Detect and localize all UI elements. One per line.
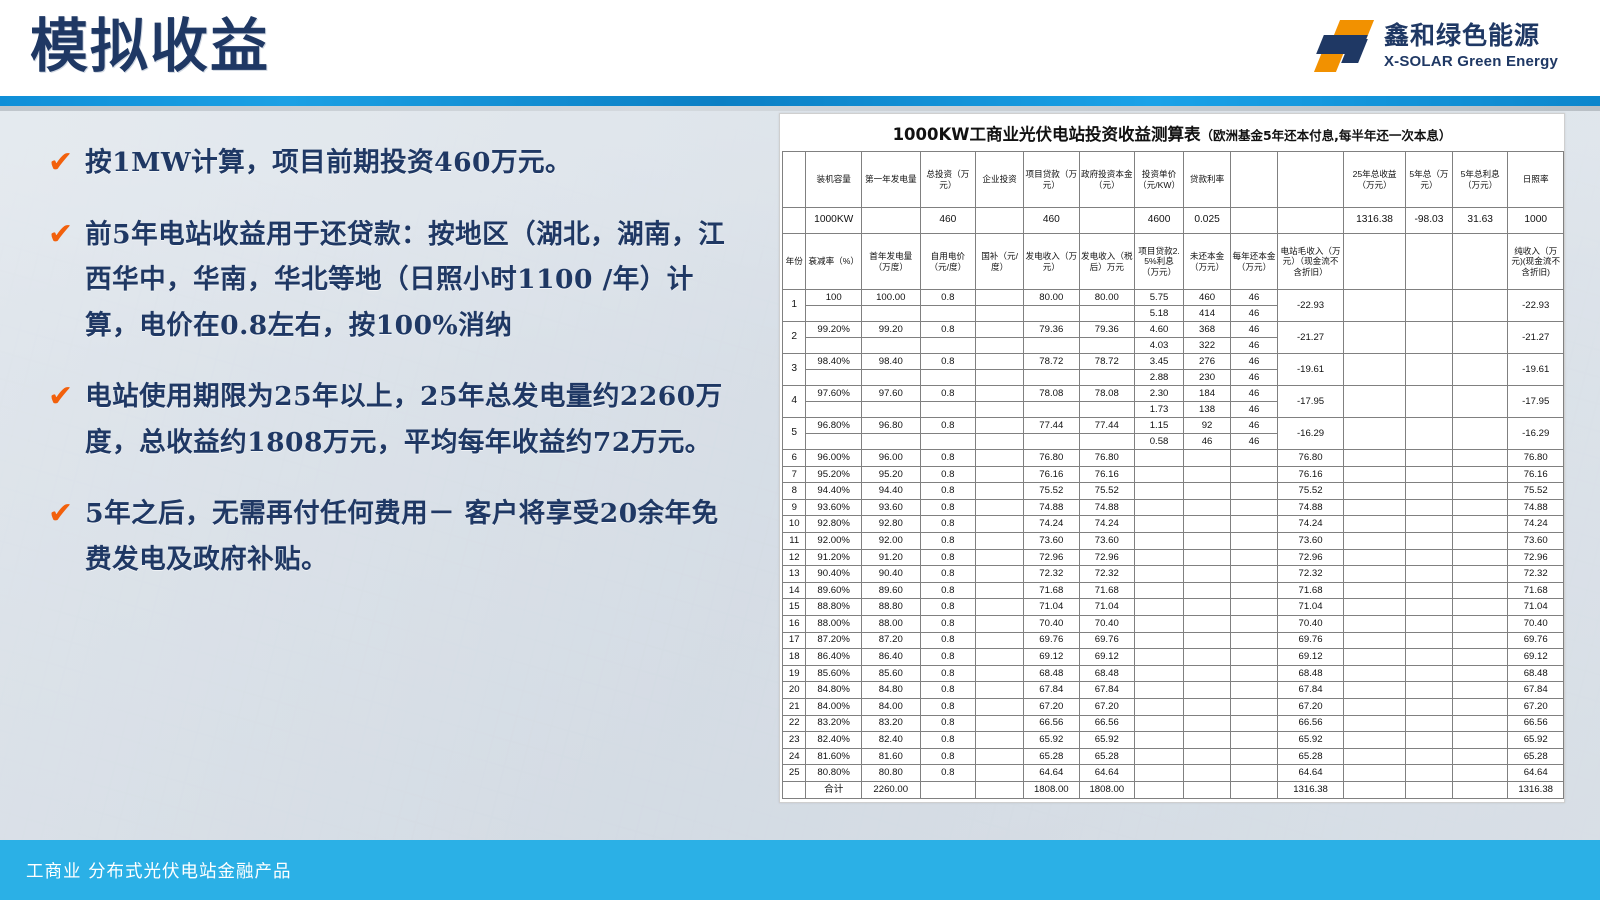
table-cell: [1344, 599, 1406, 616]
table-cell: 80.80%: [806, 765, 861, 782]
table-cell: 0.8: [920, 290, 975, 306]
table-cell: [783, 208, 806, 234]
table-cell: [1452, 632, 1507, 649]
table-cell: 95.20%: [806, 466, 861, 483]
table-cell: [1344, 450, 1406, 467]
table-cell: [976, 765, 1024, 782]
table-cell: 79.36: [1024, 322, 1079, 338]
table-cell: -22.93: [1277, 290, 1343, 322]
table-cell: [1135, 665, 1184, 682]
table-cell: [1231, 615, 1278, 632]
table-cell: [1344, 418, 1406, 450]
table-cell: 67.84: [1024, 682, 1079, 699]
table-cell: 46: [1231, 322, 1278, 338]
table-header-cell: 装机容量: [806, 152, 861, 208]
table-cell: [1024, 370, 1079, 386]
table-row: 1886.40%86.400.869.1269.1269.1269.12: [783, 649, 1564, 666]
table-cell: 15: [783, 599, 806, 616]
table-header-cell: [1452, 234, 1507, 290]
table-cell: 88.80%: [806, 599, 861, 616]
table-cell: 0.8: [920, 748, 975, 765]
revenue-table-panel: 1000KW工商业光伏电站投资收益测算表（欧洲基金5年还本付息,每半年还一次本息…: [779, 113, 1565, 803]
table-cell: [1184, 715, 1231, 732]
table-cell: 75.52: [1079, 483, 1134, 500]
table-cell: 0.8: [920, 765, 975, 782]
table-row: 1390.40%90.400.872.3272.3272.3272.32: [783, 566, 1564, 583]
table-cell: [1405, 781, 1452, 798]
table-cell: [1231, 649, 1278, 666]
table-cell: 96.80: [861, 418, 920, 434]
table-cell: [1231, 483, 1278, 500]
table-header-cell: 政府投资本金（元）: [1079, 152, 1134, 208]
table-cell: 69.12: [1277, 649, 1343, 666]
table-cell: 72.32: [1024, 566, 1079, 583]
footer-text: 工商业 分布式光伏电站金融产品: [26, 858, 292, 883]
table-cell: 84.80: [861, 682, 920, 699]
table-cell: [1344, 549, 1406, 566]
table-cell: [1452, 466, 1507, 483]
page-title: 模拟收益: [30, 10, 270, 83]
table-cell: 73.60: [1024, 532, 1079, 549]
table-cell: 460: [1024, 208, 1079, 234]
table-row: 696.00%96.000.876.8076.8076.8076.80: [783, 450, 1564, 467]
table-cell: 0.8: [920, 582, 975, 599]
table-cell: [1344, 386, 1406, 418]
table-cell: 93.60%: [806, 499, 861, 516]
table-header-cell: 纯收入（万元)(现金流不含折旧): [1508, 234, 1564, 290]
table-cell: 0.8: [920, 566, 975, 583]
table-row: 398.40%98.400.878.7278.723.4527646-19.61…: [783, 354, 1564, 370]
table-cell: 67.20: [1277, 698, 1343, 715]
table-cell: 72.32: [1079, 566, 1134, 583]
table-cell: 66.56: [1024, 715, 1079, 732]
table-cell: [976, 549, 1024, 566]
table-cell: [1344, 748, 1406, 765]
table-cell: 1000: [1508, 208, 1564, 234]
table-cell: [1405, 599, 1452, 616]
table-cell: [1405, 549, 1452, 566]
table-cell: [976, 386, 1024, 402]
header-divider-gray: [0, 106, 1600, 111]
table-cell: 94.40%: [806, 483, 861, 500]
table-cell: 0.8: [920, 599, 975, 616]
list-item: ✔ 按1MW计算，项目前期投资460万元。: [48, 140, 738, 186]
table-cell: [1452, 599, 1507, 616]
table-cell: 19: [783, 665, 806, 682]
table-cell: [1135, 715, 1184, 732]
table-cell: [1184, 615, 1231, 632]
table-cell: -17.95: [1277, 386, 1343, 418]
slide-footer: 工商业 分布式光伏电站金融产品: [0, 840, 1600, 900]
table-cell: 80.00: [1079, 290, 1134, 306]
table-cell: [1135, 516, 1184, 533]
table-cell: [1344, 781, 1406, 798]
table-cell: [861, 338, 920, 354]
table-cell: 93.60: [861, 499, 920, 516]
table-cell: [1184, 466, 1231, 483]
table-cell: 0.8: [920, 386, 975, 402]
table-cell: [1344, 483, 1406, 500]
table-cell: 65.28: [1024, 748, 1079, 765]
table-cell: 74.88: [1024, 499, 1079, 516]
table-cell: 67.84: [1277, 682, 1343, 699]
table-cell: 21: [783, 698, 806, 715]
table-cell: [1184, 450, 1231, 467]
table-cell: [1135, 698, 1184, 715]
table-cell: 46: [1184, 434, 1231, 450]
table-cell: 74.88: [1277, 499, 1343, 516]
table-cell: [1135, 499, 1184, 516]
table-cell: [1135, 582, 1184, 599]
table-cell: [976, 290, 1024, 306]
table-cell: [1452, 354, 1507, 386]
table-cell: 65.28: [1277, 748, 1343, 765]
table-cell: 90.40: [861, 566, 920, 583]
table-cell: 71.04: [1508, 599, 1564, 616]
table-cell: 1000KW: [806, 208, 861, 234]
table-cell: 70.40: [1277, 615, 1343, 632]
table-cell: [1452, 450, 1507, 467]
table-cell: [1231, 732, 1278, 749]
table-cell: [1344, 682, 1406, 699]
table-cell: 230: [1184, 370, 1231, 386]
table-cell: 69.76: [1079, 632, 1134, 649]
table-cell: 1808.00: [1079, 781, 1134, 798]
table-header-cell: [1231, 152, 1278, 208]
table-cell: [1079, 338, 1134, 354]
table-cell: 46: [1231, 306, 1278, 322]
table-cell: [1344, 649, 1406, 666]
table-cell: 66.56: [1508, 715, 1564, 732]
table-cell: 2.30: [1135, 386, 1184, 402]
table-cell: [976, 599, 1024, 616]
bullet-text: 5年之后，无需再付任何费用－ 客户将享受20余年免费发电及政府补贴。: [85, 491, 738, 582]
table-cell: [1135, 450, 1184, 467]
table-row: 1192.00%92.000.873.6073.6073.6073.60: [783, 532, 1564, 549]
table-row: 1985.60%85.600.868.4868.4868.4868.48: [783, 665, 1564, 682]
table-cell: 96.80%: [806, 418, 861, 434]
table-cell: [861, 402, 920, 418]
table-cell: [1405, 665, 1452, 682]
table-cell: 1316.38: [1277, 781, 1343, 798]
table-cell: 74.24: [1024, 516, 1079, 533]
table-cell: 71.68: [1024, 582, 1079, 599]
table-cell: 5.75: [1135, 290, 1184, 306]
table-cell: [1405, 698, 1452, 715]
table-cell: 64.64: [1079, 765, 1134, 782]
table-row: 299.20%99.200.879.3679.364.6036846-21.27…: [783, 322, 1564, 338]
table-cell: [976, 208, 1024, 234]
revenue-table: 装机容量第一年发电量总投资（万元）企业投资项目贷款（万元）政府投资本金（元）投资…: [782, 151, 1564, 799]
table-cell: [976, 632, 1024, 649]
table-cell: [1184, 682, 1231, 699]
table-cell: [1452, 615, 1507, 632]
table-cell: 90.40%: [806, 566, 861, 583]
table-cell: [1452, 582, 1507, 599]
table-header-cell: 发电收入（税后）万元: [1079, 234, 1134, 290]
check-icon: ✔: [48, 382, 73, 465]
table-cell: 0.8: [920, 450, 975, 467]
table-row: 596.80%96.800.877.4477.441.159246-16.29-…: [783, 418, 1564, 434]
table-cell: [1231, 715, 1278, 732]
table-cell: [1452, 322, 1507, 354]
table-cell: 46: [1231, 418, 1278, 434]
table-row: 1787.20%87.200.869.7669.7669.7669.76: [783, 632, 1564, 649]
table-cell: [976, 532, 1024, 549]
table-cell: [1452, 748, 1507, 765]
list-item: ✔ 电站使用期限为25年以上，25年总发电量约2260万度，总收益约1808万元…: [48, 374, 738, 465]
table-cell: 78.08: [1024, 386, 1079, 402]
table-cell: 0.8: [920, 322, 975, 338]
table-row: 1100100.000.880.0080.005.7546046-22.93-2…: [783, 290, 1564, 306]
table-header-cell: 企业投资: [976, 152, 1024, 208]
table-cell: 76.80: [1508, 450, 1564, 467]
table-row: 2184.00%84.000.867.2067.2067.2067.20: [783, 698, 1564, 715]
table-cell: 98.40: [861, 354, 920, 370]
table-cell-year: 3: [783, 354, 806, 386]
table-cell: [1231, 582, 1278, 599]
table-cell: [1135, 483, 1184, 500]
table-cell: 84.00%: [806, 698, 861, 715]
table-cell: [1452, 665, 1507, 682]
table-cell: [806, 434, 861, 450]
table-cell: 72.96: [1024, 549, 1079, 566]
table-cell: 0.8: [920, 682, 975, 699]
table-cell: 0.8: [920, 649, 975, 666]
table-cell: [1405, 290, 1452, 322]
table-cell: [1452, 549, 1507, 566]
table-cell: 68.48: [1277, 665, 1343, 682]
table-cell: 76.16: [1508, 466, 1564, 483]
table-cell: 71.68: [1277, 582, 1343, 599]
table-cell: [783, 781, 806, 798]
table-cell: [1135, 632, 1184, 649]
table-cell: [976, 698, 1024, 715]
table-cell: 1.73: [1135, 402, 1184, 418]
table-header-cell: 贷款利率: [1184, 152, 1231, 208]
table-cell: 80.80: [861, 765, 920, 782]
table-cell: 184: [1184, 386, 1231, 402]
table-cell: [1452, 499, 1507, 516]
table-cell: [976, 418, 1024, 434]
table-cell: [1452, 682, 1507, 699]
table-cell: 78.08: [1079, 386, 1134, 402]
table-cell: [1135, 682, 1184, 699]
table-header-cell: [1344, 234, 1406, 290]
table-cell-year: 1: [783, 290, 806, 322]
bullet-list: ✔ 按1MW计算，项目前期投资460万元。 ✔ 前5年电站收益用于还贷款：按地区…: [48, 140, 738, 609]
table-cell: 74.24: [1277, 516, 1343, 533]
table-cell: [976, 715, 1024, 732]
table-cell: [1231, 450, 1278, 467]
table-cell: 97.60: [861, 386, 920, 402]
table-cell: [976, 582, 1024, 599]
brand-logo: 鑫和绿色能源 X-SOLAR Green Energy: [1316, 18, 1558, 74]
table-header-cell: 电站毛收入（万元）（现金流不含折旧）: [1277, 234, 1343, 290]
table-cell: 75.52: [1277, 483, 1343, 500]
table-cell: 73.60: [1079, 532, 1134, 549]
table-cell: [1405, 516, 1452, 533]
table-cell: [1231, 466, 1278, 483]
table-cell: -19.61: [1277, 354, 1343, 386]
table-cell: [1079, 306, 1134, 322]
table-cell: 46: [1231, 434, 1278, 450]
table-cell: [976, 450, 1024, 467]
table-row: 1092.80%92.800.874.2474.2474.2474.24: [783, 516, 1564, 533]
table-header-cell: 首年发电量（万度）: [861, 234, 920, 290]
table-cell: [1452, 483, 1507, 500]
table-row: 993.60%93.600.874.8874.8874.8874.88: [783, 499, 1564, 516]
table-cell: 82.40: [861, 732, 920, 749]
table-cell: 73.60: [1508, 532, 1564, 549]
table-cell: 0.8: [920, 483, 975, 500]
table-cell: 1.15: [1135, 418, 1184, 434]
table-cell: 88.00: [861, 615, 920, 632]
table-cell: [1344, 516, 1406, 533]
table-cell: [976, 434, 1024, 450]
table-cell: [976, 682, 1024, 699]
table-cell: 91.20%: [806, 549, 861, 566]
table-cell: 97.60%: [806, 386, 861, 402]
table-cell: [920, 306, 975, 322]
table-cell: 100.00: [861, 290, 920, 306]
table-cell: [1452, 649, 1507, 666]
table-cell: 46: [1231, 386, 1278, 402]
table-cell: [1405, 499, 1452, 516]
table-cell: 0.8: [920, 615, 975, 632]
table-cell: 86.40%: [806, 649, 861, 666]
check-icon: ✔: [48, 148, 73, 186]
table-cell: [1079, 434, 1134, 450]
table-cell: [1184, 499, 1231, 516]
table-cell: 70.40: [1508, 615, 1564, 632]
table-cell: [1135, 549, 1184, 566]
table-cell: -16.29: [1508, 418, 1564, 450]
table-cell: 72.96: [1277, 549, 1343, 566]
table-cell: [1344, 698, 1406, 715]
table-cell: 31.63: [1452, 208, 1507, 234]
table-row: 2481.60%81.600.865.2865.2865.2865.28: [783, 748, 1564, 765]
table-cell: 16: [783, 615, 806, 632]
table-header-cell: 5年总利息（万元）: [1452, 152, 1507, 208]
x-solar-mark-icon: [1316, 18, 1372, 74]
table-cell: [1405, 418, 1452, 450]
table-cell: 69.76: [1277, 632, 1343, 649]
table-header-cell: 衰减率（%）: [806, 234, 861, 290]
table-cell: 84.00: [861, 698, 920, 715]
table-cell: -19.61: [1508, 354, 1564, 386]
table-cell: 92.80: [861, 516, 920, 533]
table-header-cell: [1277, 152, 1343, 208]
table-cell: 76.16: [1024, 466, 1079, 483]
table-cell: 84.80%: [806, 682, 861, 699]
table-cell: [1184, 748, 1231, 765]
table-cell: [1024, 402, 1079, 418]
table-header-cell: 25年总收益（万元）: [1344, 152, 1406, 208]
table-cell: [1135, 615, 1184, 632]
table-cell: [861, 306, 920, 322]
table-cell: [1344, 532, 1406, 549]
table-cell: [1184, 483, 1231, 500]
list-item: ✔ 5年之后，无需再付任何费用－ 客户将享受20余年免费发电及政府补贴。: [48, 491, 738, 582]
table-cell: 10: [783, 516, 806, 533]
table-cell: 71.68: [1508, 582, 1564, 599]
table-cell: [1184, 649, 1231, 666]
table-cell: [1231, 698, 1278, 715]
slide-header: 模拟收益 鑫和绿色能源 X-SOLAR Green Energy: [0, 0, 1600, 96]
table-cell: [976, 338, 1024, 354]
table-cell: [1452, 715, 1507, 732]
table-cell: [1024, 434, 1079, 450]
table-cell: [1277, 208, 1343, 234]
table-row: 2382.40%82.400.865.9265.9265.9265.92: [783, 732, 1564, 749]
table-cell: 69.12: [1079, 649, 1134, 666]
table-row: 1291.20%91.200.872.9672.9672.9672.96: [783, 549, 1564, 566]
table-row: 1000KW46046046000.0251316.38-98.0331.631…: [783, 208, 1564, 234]
table-cell: 67.20: [1024, 698, 1079, 715]
table-cell: [1344, 322, 1406, 354]
table-cell: 46: [1231, 290, 1278, 306]
table-cell: [1231, 208, 1278, 234]
table-cell: 75.52: [1024, 483, 1079, 500]
table-cell: 0.025: [1184, 208, 1231, 234]
table-cell: [1135, 649, 1184, 666]
table-cell: [1184, 516, 1231, 533]
table-row: 2084.80%84.800.867.8467.8467.8467.84: [783, 682, 1564, 699]
table-cell: 46: [1231, 370, 1278, 386]
table-cell: 66.56: [1079, 715, 1134, 732]
table-cell: [1452, 698, 1507, 715]
table-cell: 3.45: [1135, 354, 1184, 370]
table-cell: 71.04: [1277, 599, 1343, 616]
table-cell: [1231, 532, 1278, 549]
table-cell: 76.16: [1277, 466, 1343, 483]
table-cell: 0.8: [920, 532, 975, 549]
table-cell: [1405, 715, 1452, 732]
table-cell: [1344, 566, 1406, 583]
table-cell: [976, 402, 1024, 418]
table-cell: [1135, 781, 1184, 798]
bullet-text: 按1MW计算，项目前期投资460万元。: [85, 140, 572, 186]
table-cell: -22.93: [1508, 290, 1564, 322]
table-header-cell: 未还本金（万元）: [1184, 234, 1231, 290]
table-cell: [1079, 402, 1134, 418]
table-cell: [920, 402, 975, 418]
table-cell: [806, 338, 861, 354]
table-cell: 8: [783, 483, 806, 500]
table-cell: 73.60: [1277, 532, 1343, 549]
table-cell: 76.80: [1277, 450, 1343, 467]
table-cell: [976, 499, 1024, 516]
table-cell: 85.60%: [806, 665, 861, 682]
table-cell: 81.60: [861, 748, 920, 765]
table-cell: 67.20: [1079, 698, 1134, 715]
table-cell: [1135, 748, 1184, 765]
table-cell: 67.84: [1508, 682, 1564, 699]
table-header-cell: 年份: [783, 234, 806, 290]
table-cell: [1184, 566, 1231, 583]
table-cell: 4600: [1135, 208, 1184, 234]
table-cell: [1405, 732, 1452, 749]
table-cell: 0.8: [920, 715, 975, 732]
table-cell: 74.24: [1508, 516, 1564, 533]
table-cell: 414: [1184, 306, 1231, 322]
table-row: 497.60%97.600.878.0878.082.3018446-17.95…: [783, 386, 1564, 402]
table-header-cell: 5年总（万元）: [1405, 152, 1452, 208]
table-cell: [1405, 582, 1452, 599]
table-header-cell: 投资单价（元/KW）: [1135, 152, 1184, 208]
table-cell: 100: [806, 290, 861, 306]
